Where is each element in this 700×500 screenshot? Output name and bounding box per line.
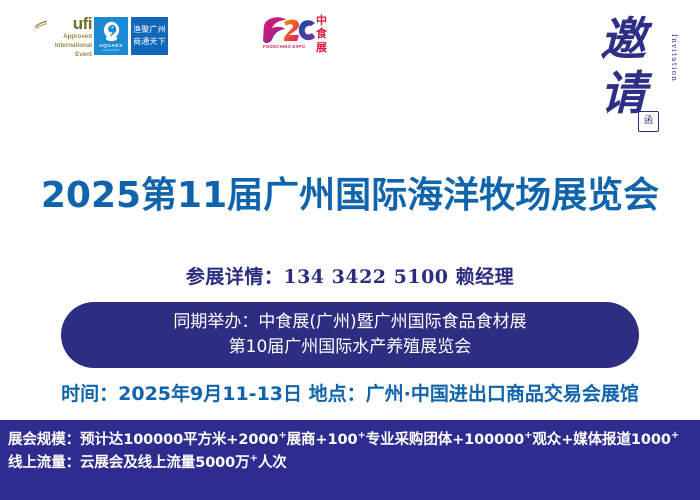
invitation-calligraphy: 邀 请 Invitation 函: [592, 12, 684, 134]
aquaex-logo: AQUAEX GUANGZHOU: [94, 17, 128, 55]
contact-info: 参展详情：134 3422 5100 赖经理: [0, 262, 700, 289]
ufi-logo: ufi Approved International Event: [46, 15, 92, 58]
f2c-subtext: FOODCHINA EXPO: [263, 44, 305, 49]
f2c-cn-char-1: 中: [316, 14, 336, 27]
f2c-logo: FOODCHINA EXPO 中 食 展: [262, 14, 336, 56]
stats-line-scale: 展会规模：预计达100000平方米+2000+展商+100+专业采购团体+100…: [8, 429, 692, 452]
ufi-swoosh-icon: [35, 20, 48, 29]
aquaex-fish-icon: [102, 21, 121, 42]
calligraphy-characters: 邀 请: [592, 12, 654, 121]
slogan-line-1: 渔聚广州: [133, 24, 166, 36]
co-located-line-1: 同期举办：中食展(广州)暨广州国际食品食材展: [173, 310, 526, 335]
f2c-cn-char-3: 展: [316, 41, 336, 54]
f2c-cn-char-2: 食: [316, 27, 336, 40]
ufi-sub-line-3: Event: [46, 51, 92, 59]
invitation-vertical-text: Invitation: [670, 34, 678, 82]
aquaex-subtext: GUANGZHOU: [102, 49, 119, 52]
ufi-wordmark: ufi: [46, 15, 92, 32]
f2c-mark-icon: [262, 14, 316, 48]
stats-line-online-traffic: 线上流量：云展会及线上流量5000万+人次: [8, 452, 692, 475]
logo-strip: ufi Approved International Event AQUAEX …: [0, 0, 700, 140]
co-located-events-banner: 同期举办：中食展(广州)暨广州国际食品食材展 第10届广州国际水产养殖展览会: [61, 302, 639, 368]
ufi-sub-line-2: International: [46, 42, 92, 50]
ufi-sub-line-1: Approved: [46, 33, 92, 41]
seal-stamp-icon: 函: [638, 111, 659, 132]
slogan-line-2: 商通天下: [133, 36, 166, 48]
stats-bar: 展会规模：预计达100000平方米+2000+展商+100+专业采购团体+100…: [0, 420, 700, 500]
calligraphy-char-yao: 邀: [592, 12, 654, 66]
aquaex-wordmark: AQUAEX: [99, 43, 123, 48]
slogan-badge: 渔聚广州 商通天下: [131, 17, 168, 55]
co-located-line-2: 第10届广州国际水产养殖展览会: [229, 335, 472, 360]
f2c-chinese-name: 中 食 展: [316, 14, 336, 54]
date-venue-info: 时间：2025年9月11-13日 地点：广州·中国进出口商品交易会展馆: [0, 379, 700, 406]
page-title: 2025第11届广州国际海洋牧场展览会: [0, 166, 700, 218]
